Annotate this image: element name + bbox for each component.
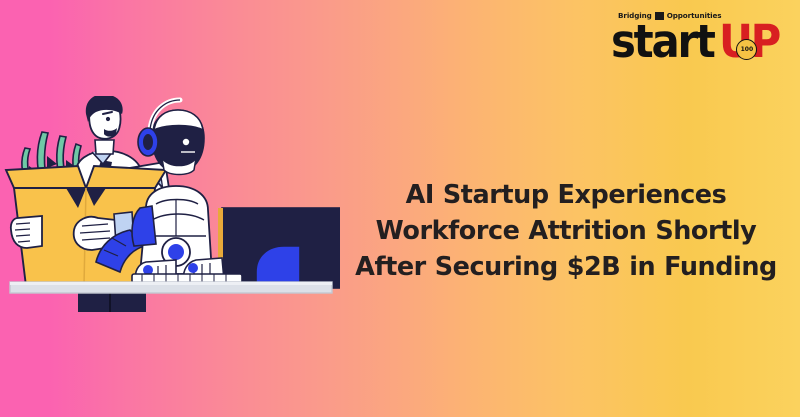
startup-logo[interactable]: Bridging Opportunities start UP 100: [611, 11, 791, 69]
desk-surface: [10, 282, 332, 293]
logo-wordmark: start UP 100: [611, 19, 784, 64]
logo-wordmark-up-wrap: UP 100: [719, 19, 783, 64]
illustration-laid-off-employee-and-robot: [0, 96, 340, 312]
article-headline: AI Startup Experiences Workforce Attriti…: [338, 177, 794, 286]
article-banner: AI Startup Experiences Workforce Attriti…: [0, 0, 800, 417]
logo-wordmark-start: start: [611, 19, 714, 64]
